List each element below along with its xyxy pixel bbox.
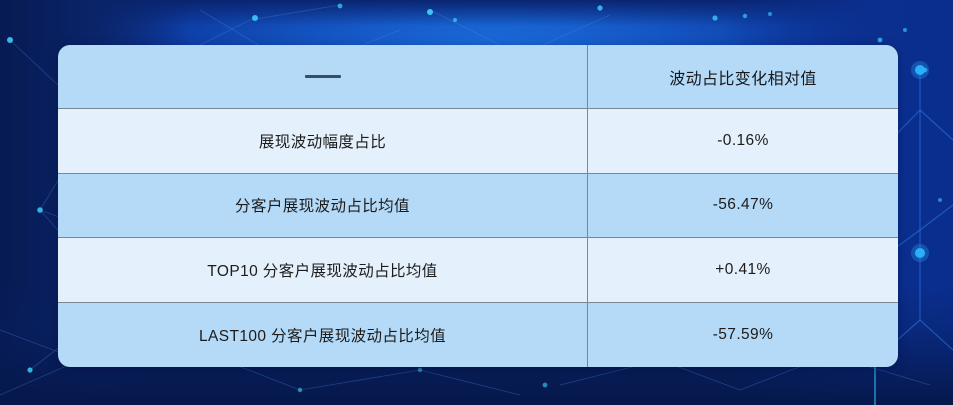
row-value: -57.59% [588,303,898,367]
row-label: LAST100 分客户展现波动占比均值 [58,303,588,367]
table-row: TOP10 分客户展现波动占比均值 +0.41% [58,238,898,302]
slide-canvas: 波动占比变化相对值 展现波动幅度占比 -0.16% 分客户展现波动占比均值 -5… [0,0,953,405]
table-header-row: 波动占比变化相对值 [58,45,898,109]
row-label: TOP10 分客户展现波动占比均值 [58,238,588,301]
header-cell-label [58,45,588,108]
header-cell-value: 波动占比变化相对值 [588,45,898,108]
row-value: -0.16% [588,109,898,172]
row-label: 展现波动幅度占比 [58,109,588,172]
metrics-table: 波动占比变化相对值 展现波动幅度占比 -0.16% 分客户展现波动占比均值 -5… [58,45,898,367]
row-label: 分客户展现波动占比均值 [58,174,588,237]
row-value: +0.41% [588,238,898,301]
row-value: -56.47% [588,174,898,237]
table-row: LAST100 分客户展现波动占比均值 -57.59% [58,303,898,367]
table-row: 展现波动幅度占比 -0.16% [58,109,898,173]
em-dash-icon [305,75,341,78]
table-row: 分客户展现波动占比均值 -56.47% [58,174,898,238]
